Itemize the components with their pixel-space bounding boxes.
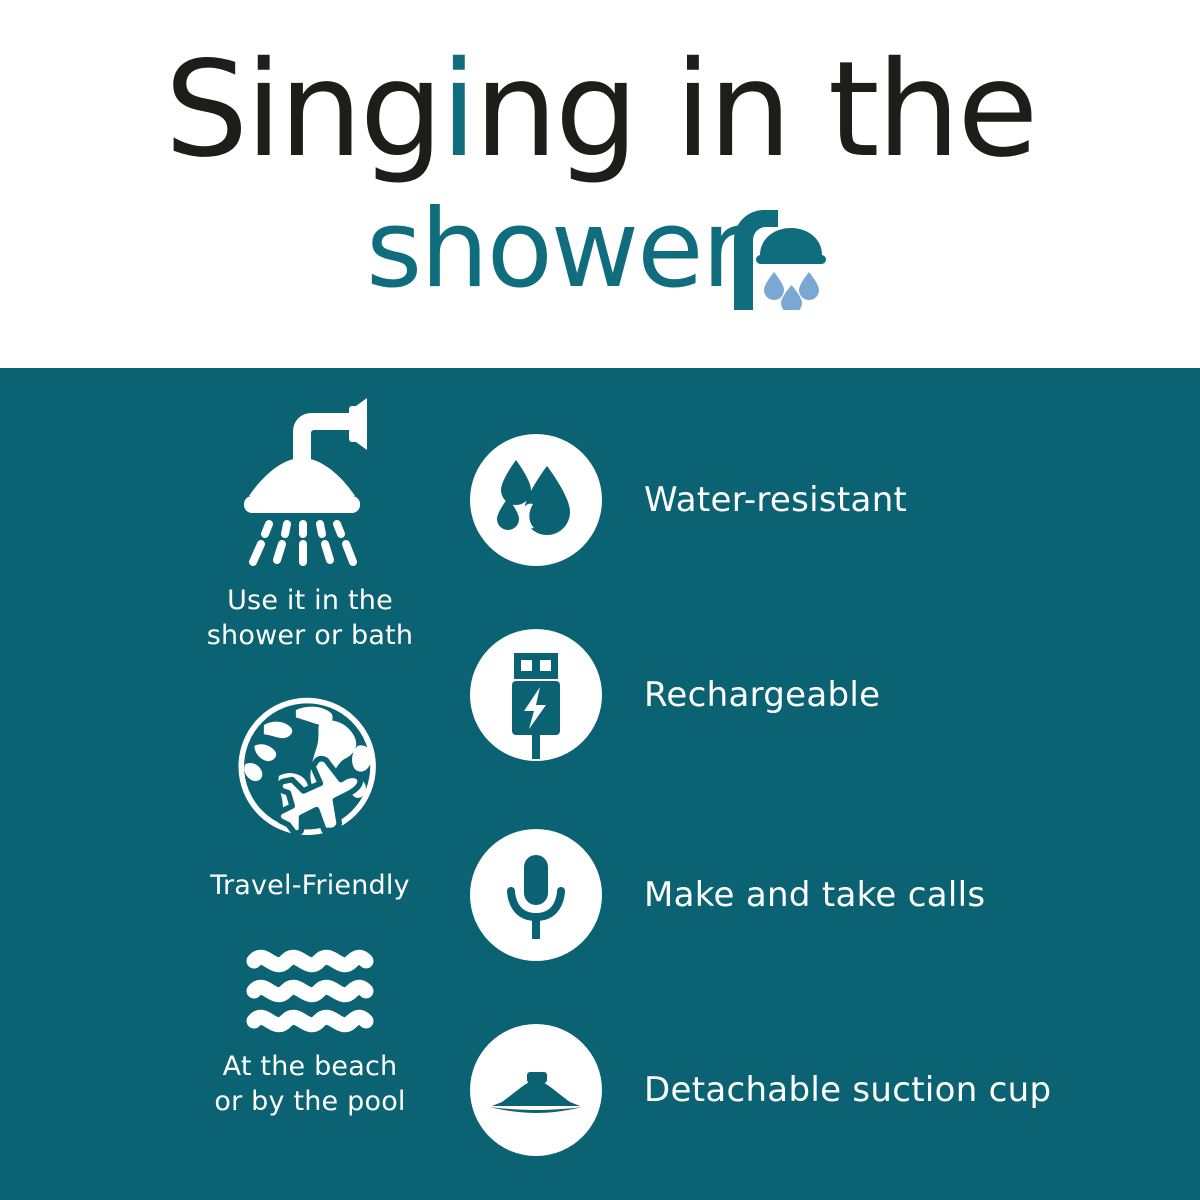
rechargeable-badge xyxy=(470,629,602,761)
features-panel: Use it in the shower or bath xyxy=(0,368,1200,1200)
right-feature-item-suction-cup: Detachable suction cup xyxy=(470,1024,1170,1156)
right-feature-item-rechargeable: Rechargeable xyxy=(470,629,1170,761)
brand-logo: Singing in the shower xyxy=(0,0,1200,368)
infographic-page: Singing in the shower xyxy=(0,0,1200,1200)
water-waves-icon xyxy=(180,948,440,1039)
right-feature-label-calls: Make and take calls xyxy=(644,875,985,915)
brand-title-line-1: Singing in the xyxy=(0,44,1200,176)
brand-title-segment-a: Sing xyxy=(165,33,441,187)
left-feature-label-beach: At the beach or by the pool xyxy=(180,1049,440,1119)
left-feature-label-travel: Travel-Friendly xyxy=(180,868,440,903)
right-feature-item-calls: Make and take calls xyxy=(470,829,1170,961)
water-resistant-badge xyxy=(470,434,602,566)
shower-head-with-droplets-icon xyxy=(730,206,834,310)
brand-title-shower-word: shower xyxy=(366,196,744,304)
shower-head-icon xyxy=(180,388,440,573)
left-feature-column: Use it in the shower or bath xyxy=(180,368,440,1200)
right-feature-label-water-resistant: Water-resistant xyxy=(644,480,907,520)
brand-title-segment-b: ng in the xyxy=(474,33,1035,187)
globe-with-airplane-icon xyxy=(180,693,440,858)
right-feature-item-water-resistant: Water-resistant xyxy=(470,434,1170,566)
left-feature-item-shower: Use it in the shower or bath xyxy=(180,388,440,653)
left-feature-item-travel: Travel-Friendly xyxy=(180,693,440,903)
right-feature-column: Water-resistant xyxy=(470,368,1170,1200)
brand-title-teal-letter-i: i xyxy=(440,33,474,187)
suction-cup-badge xyxy=(470,1024,602,1156)
left-feature-item-beach: At the beach or by the pool xyxy=(180,948,440,1119)
microphone-badge xyxy=(470,829,602,961)
logo-header: Singing in the shower xyxy=(0,0,1200,368)
left-feature-label-shower: Use it in the shower or bath xyxy=(180,583,440,653)
right-feature-label-suction-cup: Detachable suction cup xyxy=(644,1070,1051,1110)
right-feature-label-rechargeable: Rechargeable xyxy=(644,675,880,715)
brand-title-line-2: shower xyxy=(0,196,1200,304)
